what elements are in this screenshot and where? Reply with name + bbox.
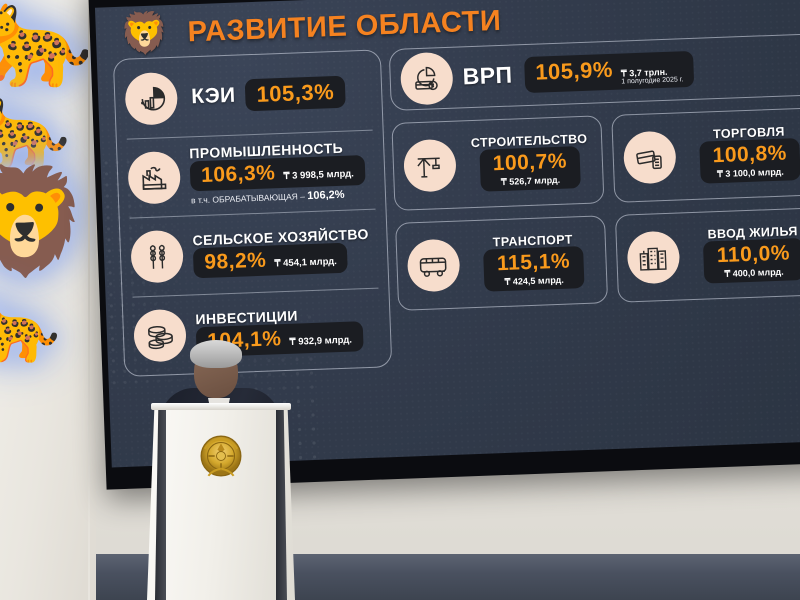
indicator-label-vrp: ВРП	[462, 62, 513, 91]
subnote-value: 106,2%	[307, 189, 345, 202]
left-indicators-panel: КЭИ 105,3% ПРОМЫШЛЕННОСТ	[113, 49, 392, 377]
presenter-hair	[190, 340, 242, 368]
percent-value: 98,2%	[204, 248, 267, 274]
card-transport[interactable]: ТРАНСПОРТ 115,1% ₸ 424,5 млрд.	[395, 215, 608, 311]
vrp-note: ₸ 3,7 трлн. 1 полугодие 2025 г.	[621, 66, 684, 87]
wall-seam	[88, 0, 90, 600]
kazakhstan-state-emblem-icon	[194, 429, 248, 483]
card-value-construction: 100,7% ₸ 526,7 млрд.	[479, 146, 581, 192]
factory-icon	[127, 150, 181, 204]
amount-value: ₸ 3 998,5 млрд.	[283, 168, 354, 182]
floor	[0, 554, 800, 600]
page-title: РАЗВИТИЕ ОБЛАСТИ	[187, 4, 502, 48]
bus-icon	[407, 239, 461, 293]
card-construction[interactable]: СТРОИТЕЛЬСТВО 100,7% ₸ 526,7 млрд.	[391, 115, 604, 211]
indicator-row-agriculture[interactable]: СЕЛЬСКОЕ ХОЗЯЙСТВО 98,2% ₸ 454,1 млрд.	[120, 208, 389, 297]
podium	[147, 407, 295, 600]
indicator-value-industry: 106,3% ₸ 3 998,5 млрд.	[190, 155, 366, 191]
indicator-subnote-industry: в т.ч. ОБРАБАТЫВАЮЩАЯ – 106,2%	[191, 188, 377, 207]
leopard-sculpture-icon: 🦁	[0, 170, 90, 274]
shopping-card-icon	[623, 131, 677, 185]
percent-value: 110,0%	[716, 241, 790, 268]
amount-value: ₸ 424,5 млрд.	[505, 275, 564, 288]
leopard-sculpture-icon: 🐆	[0, 84, 71, 168]
card-value-transport: 115,1% ₸ 424,5 млрд.	[484, 246, 585, 292]
buildings-icon	[627, 231, 681, 285]
crane-icon	[403, 139, 457, 193]
indicator-row-kei[interactable]: КЭИ 105,3%	[114, 50, 383, 139]
amount-value: ₸ 3 100,0 млрд.	[717, 167, 784, 180]
wall-leopard-decor: 🐆 🐆 🦁 🐆	[0, 0, 96, 600]
indicator-value-vrp: 105,9% ₸ 3,7 трлн. 1 полугодие 2025 г.	[524, 51, 695, 94]
snow-leopard-logo-icon: 🦁	[119, 13, 170, 55]
indicator-row-industry[interactable]: ПРОМЫШЛЕННОСТЬ 106,3% ₸ 3 998,5 млрд. в …	[117, 129, 386, 218]
percent-value: 100,7%	[492, 150, 567, 177]
money-pie-icon	[400, 52, 454, 106]
percent-value: 106,3%	[201, 161, 276, 188]
percent-value: 100,8%	[712, 142, 787, 169]
indicator-label-kei: КЭИ	[191, 83, 236, 109]
amount-value: ₸ 932,9 млрд.	[289, 334, 352, 347]
pie-bar-chart-icon	[124, 71, 178, 125]
percent-value: 115,1%	[497, 250, 571, 277]
leopard-sculpture-icon: 🐆	[0, 286, 61, 362]
percent-value: 105,9%	[535, 57, 614, 86]
card-value-trade: 100,8% ₸ 3 100,0 млрд.	[699, 138, 800, 184]
wheat-ears-icon	[130, 229, 184, 283]
indicator-value-agriculture: 98,2% ₸ 454,1 млрд.	[193, 242, 348, 278]
podium-top-surface	[151, 403, 291, 410]
conference-room: 🐆 🐆 🦁 🐆 🦁 РАЗВИТИЕ ОБЛАСТИ	[0, 0, 800, 600]
indicator-value-kei: 105,3%	[245, 75, 346, 111]
period-label: 1 полугодие 2025 г.	[621, 76, 683, 86]
amount-value: ₸ 526,7 млрд.	[501, 175, 560, 188]
percent-value: 105,3%	[256, 79, 335, 108]
leopard-sculpture-icon: 🐆	[0, 0, 94, 86]
amount-value: ₸ 454,1 млрд.	[274, 256, 337, 269]
card-housing[interactable]: ВВОД ЖИЛЬЯ 110,0% ₸ 400,0 млрд.	[615, 207, 800, 303]
amount-value: ₸ 400,0 млрд.	[724, 267, 783, 280]
card-value-housing: 110,0% ₸ 400,0 млрд.	[703, 238, 800, 284]
card-trade[interactable]: ТОРГОВЛЯ 100,8% ₸ 3 100,0 млрд.	[611, 107, 800, 203]
